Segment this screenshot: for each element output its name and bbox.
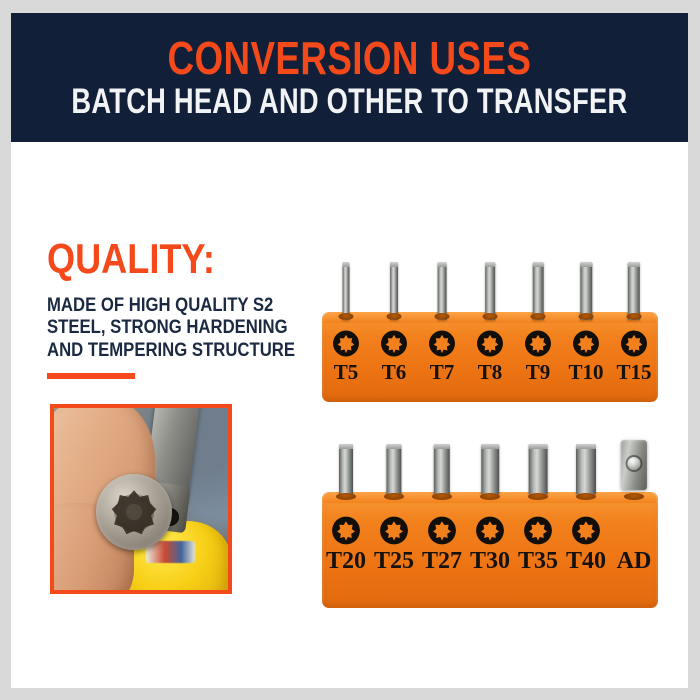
screw-torx-star-icon [110,488,157,535]
holder-socket [384,493,404,500]
torx-screw-photo [50,404,232,594]
holder-socket [336,493,356,500]
photo-content [54,408,228,590]
slot-label-t15: T15 [616,360,651,385]
holder-socket [576,493,596,500]
banner-title: CONVERSION USES [168,35,532,82]
holder-socket [339,313,354,320]
slot-label-t25: T25 [374,548,414,575]
torx-star-icon [573,330,600,357]
holder-socket [483,313,498,320]
torx-star-icon [380,516,409,545]
torx-star-icon [332,516,361,545]
holder-socket [528,493,548,500]
header-banner: CONVERSION USES BATCH HEAD AND OTHER TO … [11,13,688,142]
torx-security-screw-head [96,474,173,550]
bit-shaft-t20 [339,444,353,494]
torx-star-icon [429,330,456,357]
slot-label-t7: T7 [430,360,455,385]
torx-star-icon [333,330,360,357]
bit-shaft-t9 [533,262,544,320]
slot-label-t6: T6 [382,360,407,385]
torx-star-icon [476,516,505,545]
slot-label-t27: T27 [422,548,462,575]
slot-label-t9: T9 [526,360,551,385]
holder-socket [435,313,450,320]
torx-star-icon [524,516,553,545]
torx-star-icon [428,516,457,545]
slot-label-ad: AD [617,548,652,575]
slot-label-t10: T10 [568,360,603,385]
bit-shaft-t15 [628,262,640,320]
holder-socket [531,313,546,320]
quality-line-1: MADE OF HIGH QUALITY S2 [47,295,276,317]
quality-line-2: STEEL, STRONG HARDENING [47,317,276,339]
detent-ball-icon [628,457,641,470]
holder-socket [627,313,642,320]
torx-star-icon [525,330,552,357]
bit-shaft-t7 [438,262,447,320]
slot-label-t20: T20 [326,548,366,575]
bottom-bit-holder: T20 T25 T27 T30 T35 T40AD [322,440,658,608]
bit-shaft-t8 [485,262,495,320]
banner-subtitle: BATCH HEAD AND OTHER TO TRANSFER [71,84,627,120]
top-bit-holder: T5 T6 T7 T8 T9 T10 T15 [322,262,658,402]
bit-shaft-t5 [343,262,350,320]
bit-shaft-t25 [386,444,401,494]
orange-divider-rule [47,373,135,379]
slot-label-t8: T8 [478,360,503,385]
torx-star-icon [572,516,601,545]
bit-shaft-t30 [481,444,499,494]
slot-label-t5: T5 [334,360,359,385]
bit-shaft-t35 [529,444,548,494]
quality-line-3: AND TEMPERING STRUCTURE [47,340,276,362]
holder-socket [579,313,594,320]
slot-label-t30: T30 [470,548,510,575]
bit-shaft-t40 [576,444,596,494]
product-infographic: CONVERSION USES BATCH HEAD AND OTHER TO … [0,0,700,700]
bit-shaft-t10 [580,262,592,320]
torx-star-icon [477,330,504,357]
bit-shaft-t27 [434,444,450,494]
slot-label-t35: T35 [518,548,558,575]
holder-socket [432,493,452,500]
square-drive-adapter [621,440,647,490]
slot-label-t40: T40 [566,548,606,575]
torx-star-icon [621,330,648,357]
quality-description: MADE OF HIGH QUALITY S2 STEEL, STRONG HA… [47,295,276,362]
holder-socket [480,493,500,500]
holder-socket [387,313,402,320]
bit-shaft-t6 [390,262,398,320]
quality-heading: QUALITY: [47,238,215,280]
holder-socket [624,493,644,500]
torx-star-icon [381,330,408,357]
